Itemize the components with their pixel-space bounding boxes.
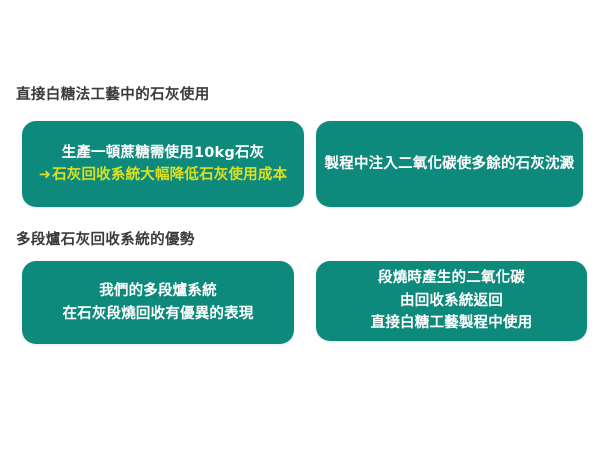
section-heading-multi-hearth-advantages: 多段爐石灰回收系統的優勢 — [16, 233, 195, 248]
co2-recycle-line-3: 直接白糖工藝製程中使用 — [371, 312, 533, 334]
lime-consumption-line-2-text: 石灰回收系統大幅降低石灰使用成本 — [52, 167, 287, 183]
multi-hearth-performance-card: 我們的多段爐系統 在石灰段燒回收有優異的表現 — [22, 261, 294, 344]
co2-recycle-line-2: 由回收系統返回 — [400, 290, 503, 312]
lime-consumption-line-1: 生產一頓蔗糖需使用10kg石灰 — [62, 142, 265, 164]
lime-consumption-card: 生產一頓蔗糖需使用10kg石灰 ➜石灰回收系統大幅降低石灰使用成本 — [22, 121, 304, 207]
co2-injection-card: 製程中注入二氧化碳使多餘的石灰沈澱 — [316, 121, 583, 207]
co2-injection-line-1: 製程中注入二氧化碳使多餘的石灰沈澱 — [325, 153, 575, 175]
multi-hearth-performance-line-1: 我們的多段爐系統 — [99, 280, 217, 302]
co2-recycle-card: 段燒時產生的二氧化碳 由回收系統返回 直接白糖工藝製程中使用 — [316, 261, 587, 341]
card-row-advantages: 我們的多段爐系統 在石灰段燒回收有優異的表現 段燒時產生的二氧化碳 由回收系統返… — [0, 261, 600, 344]
multi-hearth-performance-line-2: 在石灰段燒回收有優異的表現 — [62, 303, 253, 325]
section-heading-lime-usage: 直接白糖法工藝中的石灰使用 — [16, 88, 210, 103]
lime-consumption-line-2: ➜石灰回收系統大幅降低石灰使用成本 — [39, 164, 288, 186]
card-row-lime-usage: 生產一頓蔗糖需使用10kg石灰 ➜石灰回收系統大幅降低石灰使用成本 製程中注入二… — [0, 121, 600, 207]
arrow-right-icon: ➜ — [39, 164, 51, 186]
co2-recycle-line-1: 段燒時產生的二氧化碳 — [378, 267, 525, 289]
slide-canvas: 直接白糖法工藝中的石灰使用 生產一頓蔗糖需使用10kg石灰 ➜石灰回收系統大幅降… — [0, 0, 600, 450]
